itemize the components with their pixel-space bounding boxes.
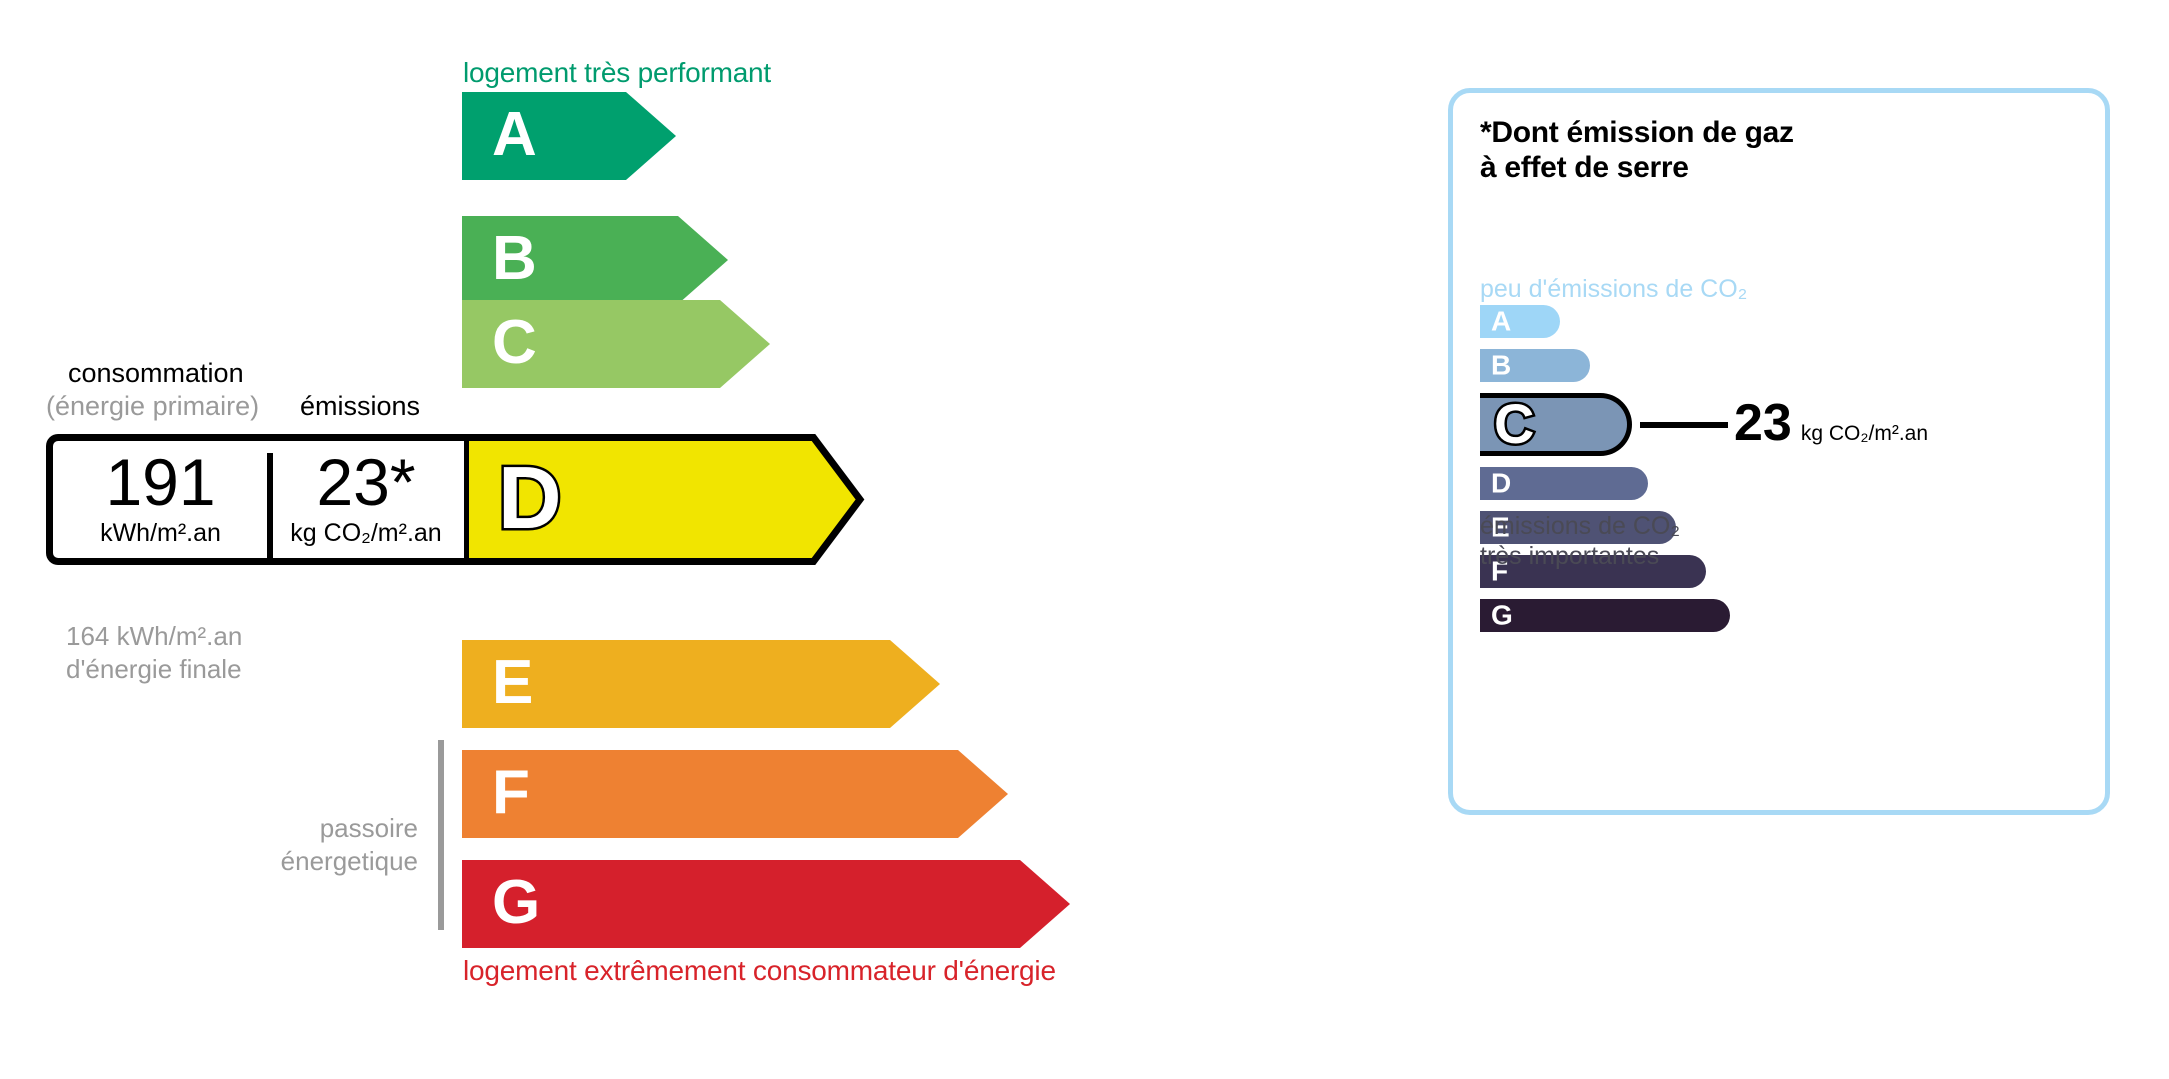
energy-arrow-shape-f — [462, 750, 1008, 838]
energy-class-row-c: C — [462, 300, 770, 388]
energy-arrow-f: F — [462, 750, 1008, 838]
co2-panel-title: *Dont émission de gaz à effet de serre — [1480, 115, 1794, 186]
co2-top-caption: peu d'émissions de CO₂ — [1480, 275, 1747, 304]
energy-arrow-a: A — [462, 92, 676, 180]
emissions-value-cell: 23* kg CO₂/m².an — [268, 441, 464, 558]
co2-bottom-caption: émissions de CO₂ très importantes — [1480, 511, 1680, 571]
co2-class-row-b: B — [1480, 349, 1590, 382]
co2-class-letter-b: B — [1491, 351, 1511, 379]
energy-arrow-shape-e — [462, 640, 940, 728]
co2-class-row-d: D — [1480, 467, 1648, 500]
final-energy-line-1: 164 kWh/m².an — [66, 620, 242, 653]
energy-value-box: 191 kWh/m².an 23* kg CO₂/m².an — [46, 434, 464, 565]
energy-class-row-b: B — [462, 216, 728, 304]
energy-class-letter-d: D — [498, 454, 562, 542]
co2-class-row-c: C23kg CO₂/m².an — [1480, 393, 1752, 456]
co2-class-letter-d: D — [1491, 469, 1511, 497]
energy-class-letter-c: C — [492, 312, 537, 374]
energy-class-letter-b: B — [492, 228, 537, 290]
co2-class-row-g: G — [1480, 599, 1730, 632]
co2-bar-b: B — [1480, 349, 1590, 382]
energy-class-row-d: D — [462, 434, 867, 565]
energy-bottom-caption: logement extrêmement consommateur d'éner… — [463, 955, 1056, 987]
energy-arrow-d: D — [462, 434, 867, 565]
consumption-value-cell: 191 kWh/m².an — [53, 441, 268, 558]
passoire-line-2: énergetique — [180, 845, 418, 878]
emissions-unit: kg CO₂/m².an — [290, 519, 441, 548]
co2-class-row-a: A — [1480, 305, 1560, 338]
energy-class-letter-e: E — [492, 652, 533, 714]
energy-class-row-e: E — [462, 640, 940, 728]
consumption-label: consommation — [68, 358, 244, 389]
emissions-label: émissions — [300, 391, 420, 422]
passoire-line-1: passoire — [180, 812, 418, 845]
energy-class-letter-a: A — [492, 104, 537, 166]
energy-arrow-g: G — [462, 860, 1070, 948]
co2-callout: 23kg CO₂/m².an — [1734, 396, 1928, 448]
final-energy-label: 164 kWh/m².an d'énergie finale — [66, 620, 242, 685]
energy-class-letter-g: G — [492, 872, 540, 934]
co2-class-letter-a: A — [1491, 307, 1511, 335]
co2-class-letter-g: G — [1491, 601, 1513, 629]
emissions-number: 23* — [316, 451, 415, 514]
co2-bar-g: G — [1480, 599, 1730, 632]
co2-title-line-1: *Dont émission de gaz — [1480, 115, 1794, 150]
co2-bar-c: C23kg CO₂/m².an — [1480, 393, 1752, 456]
energy-class-row-g: G — [462, 860, 1070, 948]
passoire-bracket — [438, 740, 444, 930]
consumption-sublabel: (énergie primaire) — [46, 391, 259, 422]
energy-arrow-shape-g — [462, 860, 1070, 948]
consumption-number: 191 — [105, 451, 215, 514]
co2-callout-value: 23 — [1734, 396, 1792, 448]
energy-performance-chart: logement très performant ABCDEFG 191 kWh… — [0, 0, 1400, 1079]
co2-class-letter-c: C — [1494, 395, 1534, 451]
energy-arrow-c: C — [462, 300, 770, 388]
co2-bottom-line-1: émissions de CO₂ — [1480, 511, 1680, 541]
co2-bar-d: D — [1480, 467, 1648, 500]
energy-class-row-f: F — [462, 750, 1008, 838]
co2-emissions-panel: *Dont émission de gaz à effet de serre p… — [1448, 88, 2110, 815]
co2-bar-a: A — [1480, 305, 1560, 338]
co2-callout-leader-line — [1640, 422, 1728, 428]
energy-class-letter-f: F — [492, 762, 530, 824]
co2-bar-shape-g — [1480, 599, 1730, 632]
co2-callout-unit: kg CO₂/m².an — [1801, 421, 1928, 445]
co2-title-line-2: à effet de serre — [1480, 150, 1794, 185]
energy-class-row-a: A — [462, 92, 676, 180]
energy-arrow-b: B — [462, 216, 728, 304]
energy-arrow-e: E — [462, 640, 940, 728]
final-energy-line-2: d'énergie finale — [66, 653, 242, 686]
passoire-label: passoire énergetique — [180, 812, 418, 877]
co2-bottom-line-2: très importantes — [1480, 541, 1680, 571]
energy-top-caption: logement très performant — [463, 57, 771, 89]
consumption-unit: kWh/m².an — [100, 519, 221, 548]
